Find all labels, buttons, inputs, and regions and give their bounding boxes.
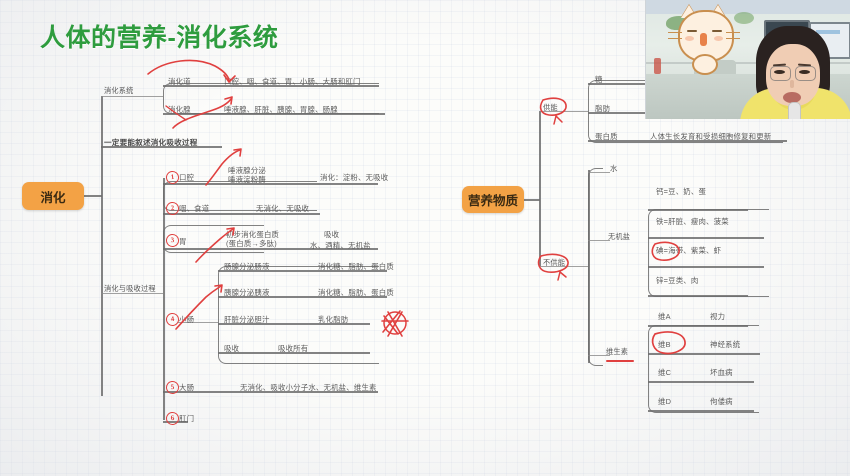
- row-result-stomach-top: 吸收: [324, 229, 339, 240]
- energy-key-sugar: 糖: [595, 74, 603, 85]
- sub-key-bile: 肝脏分泌胆汁: [224, 314, 270, 325]
- row-rule-mouth: [163, 183, 378, 185]
- root-node-nutrients-label: 营养物质: [468, 190, 518, 209]
- row-organ-anus: 肛门: [179, 413, 194, 424]
- ink-number-6: 6: [165, 411, 179, 425]
- cat-whisker-4: [726, 38, 740, 39]
- ink-underline-vitamins: [606, 360, 634, 362]
- root-node-digestion[interactable]: 消化: [22, 182, 84, 210]
- vitamin-rule-c: [648, 381, 754, 383]
- root-connector-left: [84, 195, 102, 197]
- cat-blush-right: [714, 36, 723, 41]
- sub-value-absorption: 吸收所有: [278, 343, 308, 354]
- microphone-icon: [788, 102, 801, 119]
- connector-water: [588, 172, 610, 173]
- energy-value-protein: 人体生长发育和受损细胞修复和更新: [650, 131, 771, 142]
- vitamin-value-b: 神经系统: [710, 339, 740, 350]
- cat-paw: [692, 54, 718, 75]
- row-key-digestive-tract: 消化道: [168, 76, 191, 87]
- row-organ-large-intestine: 大肠: [179, 382, 194, 393]
- sub-key-pancreatic-juice: 胰腺分泌胰液: [224, 287, 270, 298]
- mineral-row-zinc: 锌=豆类、肉: [656, 275, 698, 286]
- row-result-stomach: 水、酒精、无机盐: [310, 240, 371, 251]
- cat-sticker-icon: [670, 6, 738, 74]
- vitamin-rule-b: [648, 353, 760, 355]
- connector-minerals: [588, 240, 610, 241]
- row-organ-small-intestine: 小肠: [179, 314, 194, 325]
- row-organ-stomach: 胃: [179, 236, 187, 247]
- sub-key-absorption: 吸收: [224, 343, 239, 354]
- presenter-eye-right: [799, 70, 810, 74]
- presenter-eye-left: [774, 70, 785, 74]
- root-node-digestion-label: 消化: [40, 187, 65, 206]
- row-detail-stomach-line2: (蛋白质→多肽): [226, 238, 277, 249]
- cat-blush-left: [685, 36, 694, 41]
- whiteboard-page: 人体的营养-消化系统 消化 消化系统 消化道 口腔、咽、食道、胃、小肠、大肠和肛…: [0, 0, 850, 476]
- presenter-figure: [742, 26, 850, 119]
- vitamin-key-b: 维B: [658, 339, 671, 350]
- row-value-digestive-tract: 口腔、咽、食道、胃、小肠、大肠和肛门: [224, 76, 361, 87]
- row-detail-mouth-line2: 唾液淀粉酶: [228, 174, 266, 185]
- nonenergy-spine: [588, 170, 590, 363]
- vitamin-rule-a: [648, 325, 748, 327]
- mineral-rule-iodine: [648, 266, 764, 268]
- row-key-digestive-glands: 消化腺: [168, 104, 191, 115]
- group-label-vitamins: 维生素: [606, 347, 628, 357]
- energy-key-protein: 蛋白质: [595, 131, 618, 142]
- vitamin-key-a: 维A: [658, 311, 671, 322]
- sub-value-bile: 乳化脂肪: [318, 314, 348, 325]
- row-result-large-intestine: 无消化、吸收小分子水、无机盐、维生素: [240, 382, 377, 393]
- energy-key-fat: 脂肪: [595, 103, 610, 114]
- cat-eye-right: [712, 30, 722, 32]
- branch-connector-digestive-system: [101, 96, 163, 97]
- cat-whisker-1: [668, 32, 682, 33]
- cat-whisker-3: [726, 32, 740, 33]
- row-organ-esophagus: 咽、食道: [179, 203, 209, 214]
- vitamin-rule-d: [648, 410, 754, 412]
- branch-label-digestive-system: 消化系统: [104, 86, 134, 96]
- mineral-row-iodine: 碘=海带、紫菜、虾: [656, 245, 721, 256]
- presenter-nose: [790, 80, 794, 88]
- vitamin-value-d: 佝偻病: [710, 396, 733, 407]
- cat-mouth: [700, 33, 707, 46]
- sub-value-pancreatic-juice: 消化糖、脂肪、蛋白质: [318, 287, 394, 298]
- group-label-energy: 供能: [543, 103, 558, 113]
- row-organ-mouth: 口腔: [179, 172, 194, 183]
- cat-eye-left: [687, 30, 697, 32]
- mineral-row-calcium: 钙=豆、奶、蛋: [656, 186, 706, 197]
- red-object: [654, 58, 661, 74]
- vitamin-value-c: 坏血病: [710, 367, 733, 378]
- root-node-nutrients[interactable]: 营养物质: [462, 186, 524, 213]
- branch-label-process: 消化与吸收过程: [104, 284, 156, 294]
- mineral-rule-calcium: [648, 209, 748, 211]
- root-spine-left: [101, 96, 103, 396]
- vitamin-key-d: 维D: [658, 396, 671, 407]
- vitamin-key-c: 维C: [658, 367, 671, 378]
- mineral-rule-iron: [648, 237, 764, 239]
- cat-whisker-2: [668, 38, 682, 39]
- bracket-nonenergy: [588, 168, 603, 366]
- webcam-overlay[interactable]: [645, 0, 850, 119]
- root-connector-right: [524, 199, 540, 201]
- ink-number-3: 3: [165, 233, 179, 247]
- group-label-nonenergy: 不供能: [543, 258, 565, 268]
- mineral-rule-zinc: [648, 295, 748, 297]
- root-spine-right: [539, 111, 541, 266]
- ink-number-5: 5: [165, 380, 179, 394]
- sub-key-intestinal-juice: 肠腺分泌肠液: [224, 261, 270, 272]
- nonenergy-water: 水: [610, 163, 618, 174]
- vitamin-value-a: 视力: [710, 311, 725, 322]
- note-text: 一定要能叙述消化吸收过程: [104, 137, 198, 148]
- row-result-mouth: 消化：淀粉、无吸收: [320, 172, 388, 183]
- row-result-esophagus: 无消化、无吸收: [256, 203, 309, 214]
- page-title: 人体的营养-消化系统: [40, 18, 278, 54]
- sub-value-intestinal-juice: 消化糖、脂肪、蛋白质: [318, 261, 394, 272]
- mineral-row-iron: 铁=肝脏、瘦肉、菠菜: [656, 216, 729, 227]
- row-value-digestive-glands: 唾液腺、肝脏、胰腺、胃腺、肠腺: [224, 104, 338, 115]
- group-label-minerals: 无机盐: [608, 232, 630, 242]
- ink-number-4: 4: [165, 312, 179, 326]
